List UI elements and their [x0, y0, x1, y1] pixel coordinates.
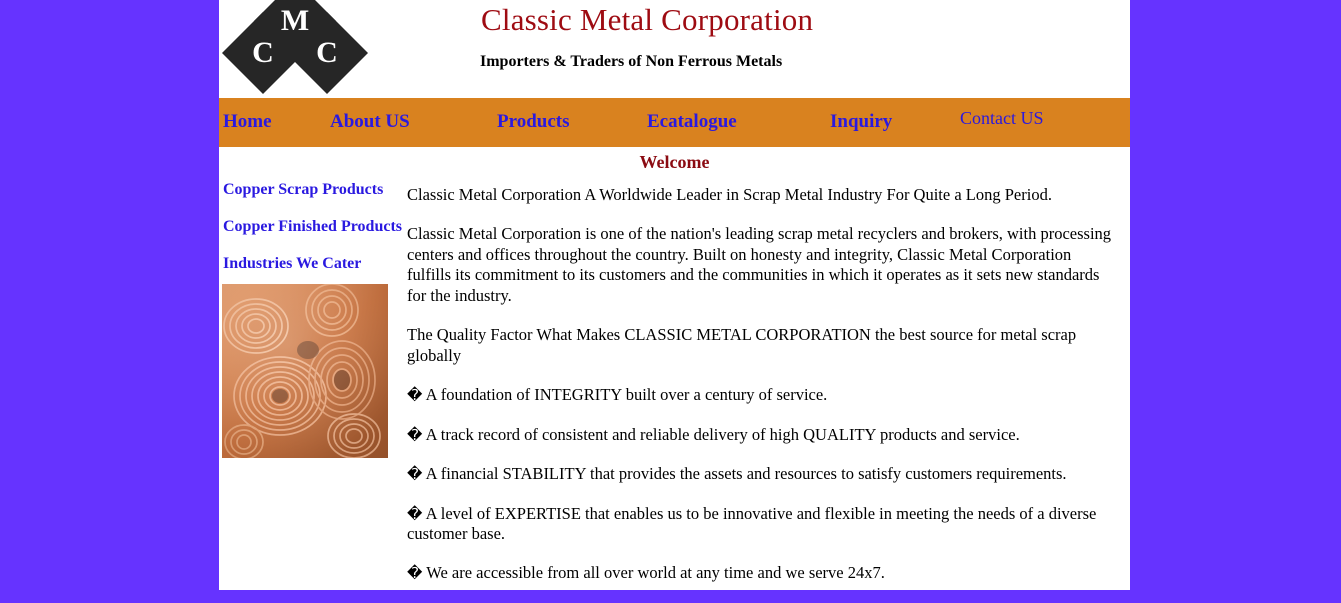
sidebar-item-copper-finished-products[interactable]: Copper Finished Products [223, 218, 409, 236]
copper-coils-image [222, 284, 388, 458]
bullet-text: A financial STABILITY that provides the … [426, 464, 1067, 483]
company-title: Classic Metal Corporation [481, 2, 813, 38]
nav-item-ecatalogue[interactable]: Ecatalogue [647, 111, 737, 133]
bullet-marker-icon: � [407, 505, 422, 523]
main-text-column: Classic Metal Corporation A Worldwide Le… [407, 185, 1119, 603]
site-header: C C M Classic Metal Corporation Importer… [219, 0, 1130, 98]
welcome-heading: Welcome [219, 152, 1130, 173]
bullet-text: A track record of consistent and reliabl… [426, 425, 1020, 444]
logo-letter-m: M [266, 0, 324, 50]
quality-paragraph: The Quality Factor What Makes CLASSIC ME… [407, 325, 1119, 366]
bullet-marker-icon: � [407, 465, 422, 483]
bullet-marker-icon: � [407, 426, 422, 444]
main-navigation: Home About US Products Ecatalogue Inquir… [219, 98, 1130, 147]
cmc-diamond-logo: C C M [228, 0, 364, 95]
bullet-item-quality: � A track record of consistent and relia… [407, 425, 1119, 445]
bullet-marker-icon: � [407, 386, 422, 404]
nav-item-inquiry[interactable]: Inquiry [830, 111, 892, 133]
bullet-text: We are accessible from all over world at… [426, 563, 885, 582]
content-body: Welcome Copper Scrap Products Copper Fin… [219, 147, 1130, 590]
nav-item-about-us[interactable]: About US [330, 111, 410, 133]
company-tagline: Importers & Traders of Non Ferrous Metal… [480, 53, 782, 71]
bullet-item-integrity: � A foundation of INTEGRITY built over a… [407, 385, 1119, 405]
bullet-item-accessibility: � We are accessible from all over world … [407, 563, 1119, 583]
bullet-marker-icon: � [407, 564, 422, 582]
bullet-item-expertise: � A level of EXPERTISE that enables us t… [407, 504, 1119, 545]
copper-coils-graphic [222, 284, 388, 458]
nav-item-home[interactable]: Home [223, 111, 272, 133]
page-content-area: C C M Classic Metal Corporation Importer… [219, 0, 1130, 590]
sidebar-item-copper-scrap-products[interactable]: Copper Scrap Products [223, 181, 409, 199]
about-paragraph: Classic Metal Corporation is one of the … [407, 224, 1119, 306]
nav-item-contact-us[interactable]: Contact US [960, 108, 1044, 129]
bullet-text: A foundation of INTEGRITY built over a c… [426, 385, 828, 404]
nav-item-products[interactable]: Products [497, 111, 569, 133]
bullet-item-stability: � A financial STABILITY that provides th… [407, 464, 1119, 484]
sidebar-item-industries-we-cater[interactable]: Industries We Cater [223, 255, 409, 273]
sidebar-links: Copper Scrap Products Copper Finished Pr… [223, 181, 409, 292]
intro-paragraph: Classic Metal Corporation A Worldwide Le… [407, 185, 1119, 205]
bullet-text: A level of EXPERTISE that enables us to … [407, 504, 1096, 543]
